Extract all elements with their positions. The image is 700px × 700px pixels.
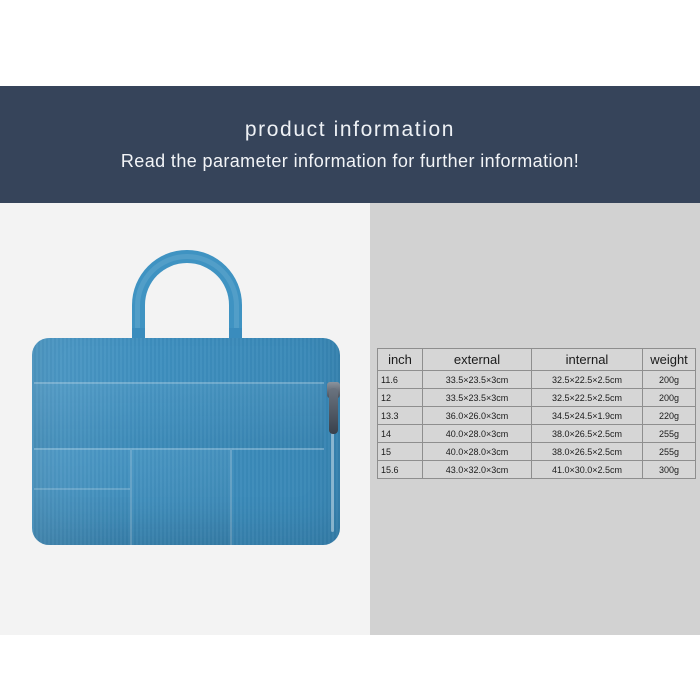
table-row: 14 40.0×28.0×3cm 38.0×26.5×2.5cm 255g <box>378 425 696 443</box>
cell-external: 33.5×23.5×3cm <box>423 371 532 389</box>
cell-weight: 220g <box>643 407 696 425</box>
cell-weight: 255g <box>643 443 696 461</box>
cell-internal: 34.5×24.5×1.9cm <box>532 407 643 425</box>
cell-inch: 11.6 <box>378 371 423 389</box>
cell-external: 43.0×32.0×3cm <box>423 461 532 479</box>
cell-inch: 15 <box>378 443 423 461</box>
cell-weight: 200g <box>643 371 696 389</box>
cell-internal: 32.5×22.5×2.5cm <box>532 389 643 407</box>
table-row: 15.6 43.0×32.0×3cm 41.0×30.0×2.5cm 300g <box>378 461 696 479</box>
column-header-weight: weight <box>643 349 696 371</box>
table-row: 13.3 36.0×26.0×3cm 34.5×24.5×1.9cm 220g <box>378 407 696 425</box>
content-area: inch external internal weight 11.6 33.5×… <box>0 203 700 635</box>
specification-table-wrapper: inch external internal weight 11.6 33.5×… <box>377 348 695 479</box>
column-header-inch: inch <box>378 349 423 371</box>
table-row: 15 40.0×28.0×3cm 38.0×26.5×2.5cm 255g <box>378 443 696 461</box>
cell-internal: 38.0×26.5×2.5cm <box>532 443 643 461</box>
specification-panel: inch external internal weight 11.6 33.5×… <box>370 203 700 635</box>
page-title: product information <box>245 118 455 141</box>
cell-internal: 41.0×30.0×2.5cm <box>532 461 643 479</box>
laptop-bag-image <box>32 250 340 545</box>
cell-external: 40.0×28.0×3cm <box>423 443 532 461</box>
bag-body <box>32 338 340 545</box>
bag-middle-pocket-icon <box>132 450 232 545</box>
cell-inch: 13.3 <box>378 407 423 425</box>
cell-weight: 200g <box>643 389 696 407</box>
table-row: 12 33.5×23.5×3cm 32.5×22.5×2.5cm 200g <box>378 389 696 407</box>
table-row: 11.6 33.5×23.5×3cm 32.5×22.5×2.5cm 200g <box>378 371 696 389</box>
product-information-page: product information Read the parameter i… <box>0 0 700 700</box>
cell-inch: 14 <box>378 425 423 443</box>
cell-inch: 12 <box>378 389 423 407</box>
bag-zipper-pull-icon <box>329 388 338 434</box>
table-body: 11.6 33.5×23.5×3cm 32.5×22.5×2.5cm 200g … <box>378 371 696 479</box>
table-header: inch external internal weight <box>378 349 696 371</box>
column-header-internal: internal <box>532 349 643 371</box>
column-header-external: external <box>423 349 532 371</box>
product-photo-panel <box>0 203 370 635</box>
bag-front-pocket-icon <box>34 384 324 450</box>
cell-internal: 38.0×26.5×2.5cm <box>532 425 643 443</box>
cell-weight: 300g <box>643 461 696 479</box>
cell-external: 33.5×23.5×3cm <box>423 389 532 407</box>
cell-internal: 32.5×22.5×2.5cm <box>532 371 643 389</box>
bag-left-pocket-divider-icon <box>34 488 130 490</box>
cell-external: 40.0×28.0×3cm <box>423 425 532 443</box>
bag-left-pocket-icon <box>34 450 132 545</box>
table-header-row: inch external internal weight <box>378 349 696 371</box>
product-information-banner: product information Read the parameter i… <box>0 86 700 203</box>
cell-inch: 15.6 <box>378 461 423 479</box>
cell-external: 36.0×26.0×3cm <box>423 407 532 425</box>
cell-weight: 255g <box>643 425 696 443</box>
specification-table: inch external internal weight 11.6 33.5×… <box>377 348 696 479</box>
page-subtitle: Read the parameter information for furth… <box>121 152 579 172</box>
